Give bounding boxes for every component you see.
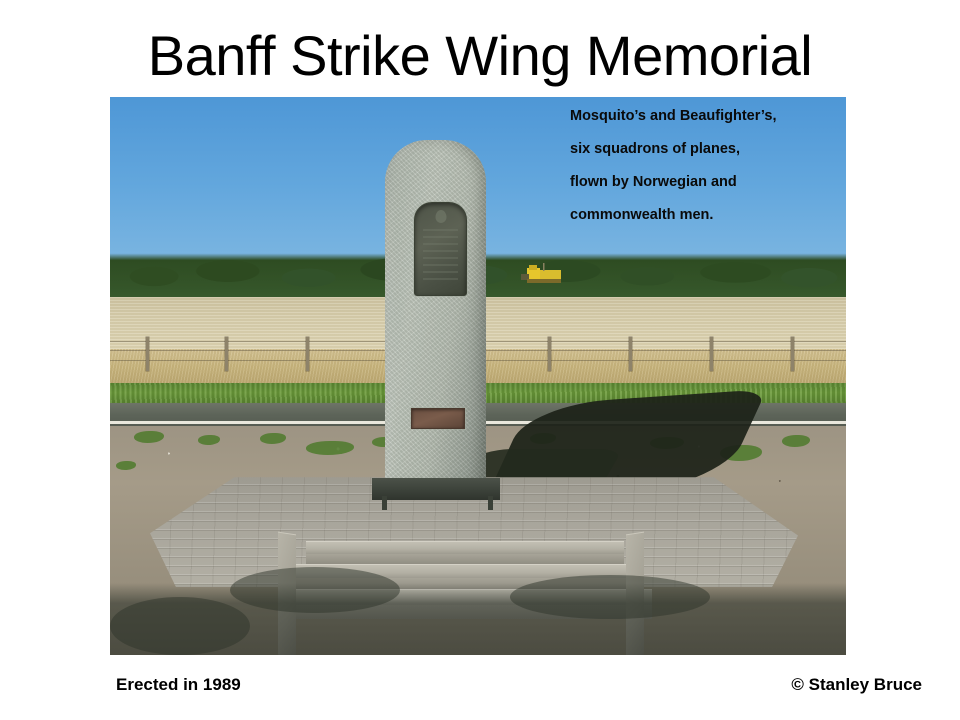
memorial-monolith — [385, 140, 486, 485]
memorial-photograph: Mosquito’s and Beaufighter’s, six squadr… — [110, 97, 846, 655]
erected-date-caption: Erected in 1989 — [116, 675, 241, 695]
overlay-line-1: Mosquito’s and Beaufighter’s, — [570, 100, 846, 133]
copyright-caption: © Stanley Bruce — [791, 675, 922, 695]
monument-base-frame — [372, 478, 500, 500]
bronze-dedication-plaque — [411, 408, 465, 429]
plaque-emblem-icon — [435, 210, 446, 223]
monument-base-leg — [488, 496, 493, 510]
monument-base-leg — [382, 496, 387, 510]
foreground-shadow-blob — [510, 575, 710, 619]
photo-overlay-caption: Mosquito’s and Beaufighter’s, six squadr… — [570, 100, 846, 232]
page-title: Banff Strike Wing Memorial — [0, 24, 960, 88]
plaque-inscription — [423, 229, 458, 285]
foreground-shadow-blob — [230, 567, 400, 613]
step-riser-top — [306, 554, 624, 564]
step-tread-top — [306, 541, 624, 555]
overlay-line-4: commonwealth men. — [570, 199, 846, 232]
overlay-line-2: six squadrons of planes, — [570, 133, 846, 166]
combine-harvester — [519, 263, 566, 285]
bronze-memorial-plaque — [414, 202, 467, 296]
foreground-shadow-blob — [110, 597, 250, 655]
overlay-line-3: flown by Norwegian and — [570, 166, 846, 199]
